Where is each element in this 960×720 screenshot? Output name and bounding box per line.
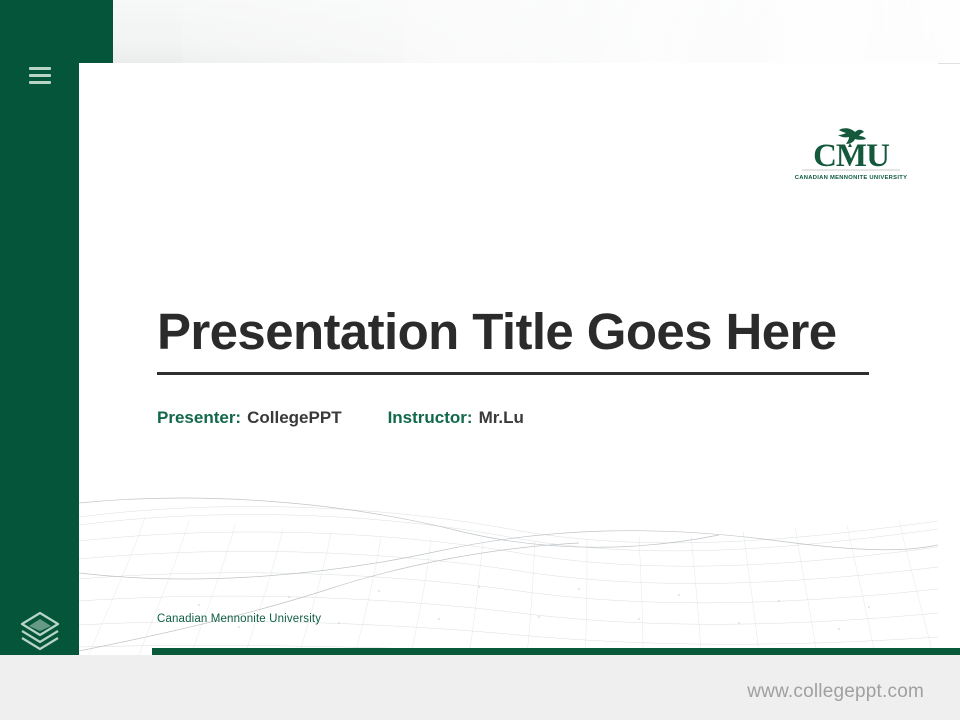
svg-text:CMU: CMU [813, 138, 890, 174]
layers-stack-icon [18, 609, 62, 651]
footer-left-block [0, 655, 113, 720]
organization-name: Canadian Mennonite University [157, 613, 321, 625]
hamburger-menu-icon [29, 67, 51, 84]
footer-watermark: www.collegeppt.com [747, 681, 924, 703]
footer: www.collegeppt.com [0, 655, 960, 720]
presenter-value: CollegePPT [247, 408, 341, 428]
page-title: Presentation Title Goes Here [157, 305, 869, 359]
slide-canvas: CMU CANADIAN MENNONITE UNIVERSITY Presen… [0, 0, 960, 720]
slide-body: CMU CANADIAN MENNONITE UNIVERSITY Presen… [79, 63, 938, 655]
title-underline-rule [157, 372, 869, 375]
wireframe-mesh-decoration [79, 455, 938, 655]
slide-bottom-accent-bar [152, 648, 960, 655]
cmu-logo: CMU CANADIAN MENNONITE UNIVERSITY [792, 126, 910, 181]
title-block: Presentation Title Goes Here [157, 305, 869, 375]
instructor-label: Instructor: [388, 408, 473, 428]
sidebar-header-block [0, 0, 113, 64]
presenter-instructor-row: Presenter: CollegePPT Instructor: Mr.Lu [157, 408, 524, 428]
menu-button[interactable] [0, 58, 80, 92]
layers-button[interactable] [0, 600, 80, 660]
presenter-label: Presenter: [157, 408, 241, 428]
instructor-value: Mr.Lu [479, 408, 524, 428]
cmu-logo-mark: CMU [792, 126, 910, 174]
top-decorative-band [0, 0, 960, 64]
sidebar [0, 64, 80, 656]
cmu-logo-subtitle: CANADIAN MENNONITE UNIVERSITY [790, 175, 913, 181]
